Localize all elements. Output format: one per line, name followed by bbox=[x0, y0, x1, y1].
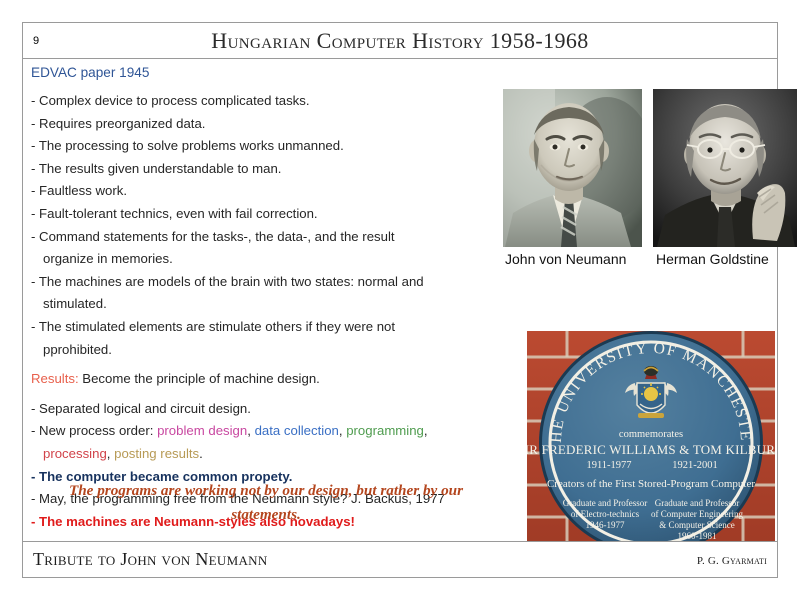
bullet-separated-design: - Separated logical and circuit design. bbox=[31, 398, 489, 421]
footer-title: Tribute to John von Neumann bbox=[33, 549, 268, 570]
bullet-item: - The processing to solve problems works… bbox=[31, 135, 489, 158]
bullet-process-order-continuation: processing, posting results. bbox=[31, 443, 489, 466]
svg-text:of Electro-technics: of Electro-technics bbox=[571, 509, 640, 519]
svg-text:Graduate and Professor: Graduate and Professor bbox=[655, 498, 739, 508]
content-text-column: EDVAC paper 1945 - Complex device to pro… bbox=[31, 63, 489, 533]
herman-goldstine-photo bbox=[653, 89, 797, 247]
svg-text:1946-1977: 1946-1977 bbox=[586, 520, 625, 530]
results-line: Results: Become the principle of machine… bbox=[31, 368, 489, 391]
bullet-item: - The stimulated elements are stimulate … bbox=[31, 316, 489, 339]
herman-goldstine-caption: Herman Goldstine bbox=[656, 251, 769, 267]
svg-text:& Computer Science: & Computer Science bbox=[659, 520, 734, 530]
bullet-process-order: - New process order: problem design, dat… bbox=[31, 420, 489, 443]
page-title: Hungarian Computer History 1958-1968 bbox=[23, 28, 777, 54]
john-von-neumann-caption: John von Neumann bbox=[505, 251, 626, 267]
results-text: Become the principle of machine design. bbox=[79, 371, 320, 386]
spacer bbox=[31, 391, 489, 398]
bullet-item: - Faultless work. bbox=[31, 180, 489, 203]
spacer bbox=[31, 83, 489, 90]
slide: 9 Hungarian Computer History 1958-1968 E… bbox=[22, 22, 778, 578]
svg-text:of Computer Engineering: of Computer Engineering bbox=[651, 509, 743, 519]
slide-footer: Tribute to John von Neumann P. G. Gyarma… bbox=[23, 541, 777, 577]
bullet-item: - The results given understandable to ma… bbox=[31, 158, 489, 181]
process-item-processing: processing bbox=[43, 446, 107, 461]
bullet-continuation: organize in memories. bbox=[31, 248, 489, 271]
bullet-item: - Command statements for the tasks-, the… bbox=[31, 226, 489, 249]
process-item-programming: programming bbox=[346, 423, 424, 438]
svg-text:SIR FREDERIC WILLIAMS & TOM KI: SIR FREDERIC WILLIAMS & TOM KILBURN bbox=[527, 442, 775, 457]
bullet-item: - Fault-tolerant technics, even with fai… bbox=[31, 203, 489, 226]
closing-quote: The programs are working not by our desi… bbox=[45, 479, 487, 527]
svg-text:1921-2001: 1921-2001 bbox=[672, 460, 718, 471]
results-label: Results: bbox=[31, 371, 79, 386]
spacer bbox=[31, 361, 489, 368]
bullet-item: - Complex device to process complicated … bbox=[31, 90, 489, 113]
bullet-continuation: pprohibited. bbox=[31, 339, 489, 362]
section-heading: EDVAC paper 1945 bbox=[31, 63, 489, 83]
footer-author: P. G. Gyarmati bbox=[697, 555, 767, 567]
slide-body: EDVAC paper 1945 - Complex device to pro… bbox=[23, 59, 777, 543]
svg-text:1960-1981: 1960-1981 bbox=[678, 531, 717, 541]
svg-text:Creators of the First Stored-P: Creators of the First Stored-Program Com… bbox=[547, 478, 755, 490]
john-von-neumann-photo bbox=[503, 89, 642, 247]
slide-header: 9 Hungarian Computer History 1958-1968 bbox=[23, 23, 777, 59]
svg-text:1911-1977: 1911-1977 bbox=[586, 460, 631, 471]
process-item-data-collection: data collection bbox=[255, 423, 339, 438]
svg-text:commemorates: commemorates bbox=[619, 429, 683, 440]
manchester-blue-plaque-photo: THE UNIVERSITY OF MANCHESTER bbox=[527, 331, 775, 563]
process-item-problem-design: problem design bbox=[157, 423, 247, 438]
process-order-prefix: - New process order: bbox=[31, 423, 157, 438]
process-item-posting-results: posting results bbox=[114, 446, 199, 461]
bullet-continuation: stimulated. bbox=[31, 293, 489, 316]
bullet-item: - The machines are models of the brain w… bbox=[31, 271, 489, 294]
svg-text:Graduate and Professor: Graduate and Professor bbox=[563, 498, 647, 508]
bullet-item: - Requires preorganized data. bbox=[31, 113, 489, 136]
